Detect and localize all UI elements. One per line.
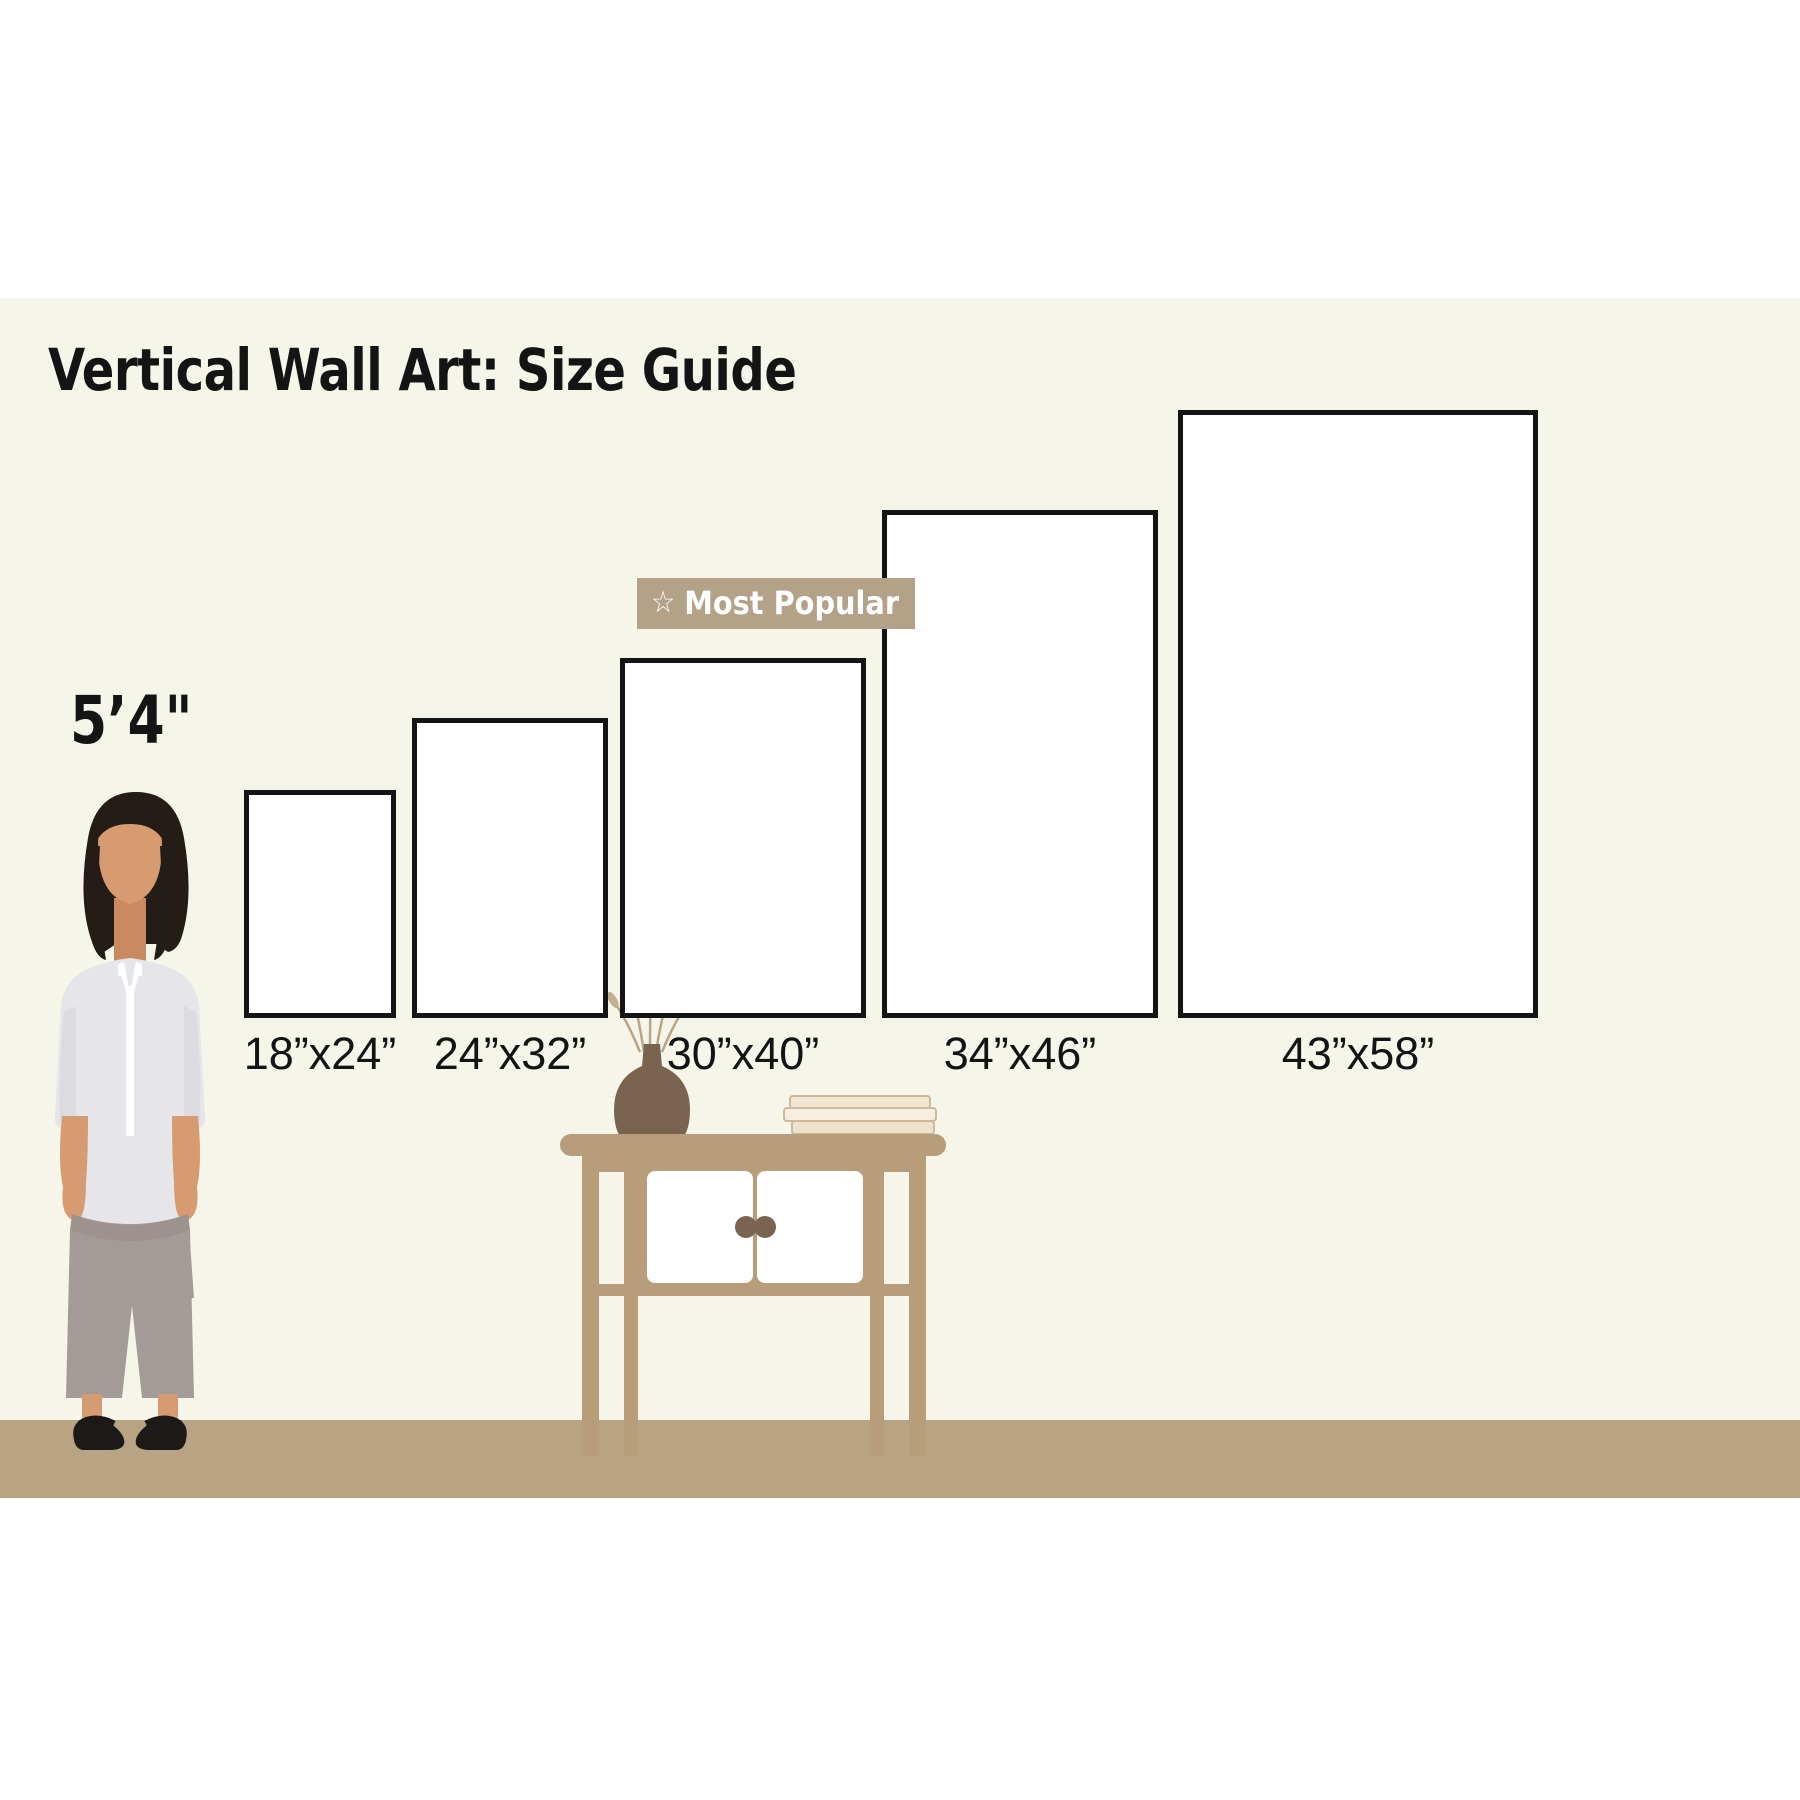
size-label-24x32: 24”x32” [420, 1028, 600, 1080]
size-label-43x58: 43”x58” [1268, 1028, 1448, 1080]
page-title: Vertical Wall Art: Size Guide [48, 336, 796, 404]
most-popular-badge[interactable]: ☆ Most Popular [637, 578, 915, 629]
person-height-label: 5’4" [70, 682, 193, 759]
frame-34x46[interactable] [882, 510, 1158, 1018]
frame-24x32[interactable] [412, 718, 608, 1018]
table-leg-left [582, 1156, 599, 1456]
frame-18x24[interactable] [244, 790, 396, 1018]
frame-43x58[interactable] [1178, 410, 1538, 1018]
star-icon: ☆ [651, 588, 675, 618]
table-top [560, 1134, 946, 1156]
person-figure [40, 768, 220, 1478]
size-label-30x40: 30”x40” [653, 1028, 833, 1080]
person-illustration [40, 768, 220, 1478]
table-leg-right [909, 1156, 926, 1456]
frame-30x40[interactable] [620, 658, 866, 1018]
wall-scene: Vertical Wall Art: Size Guide 5’4" [0, 298, 1800, 1498]
cabinet-knob-left [735, 1216, 757, 1238]
size-label-18x24: 18”x24” [230, 1028, 410, 1080]
book-stack [784, 1096, 936, 1134]
cabinet-knob-right [754, 1216, 776, 1238]
size-label-34x46: 34”x46” [930, 1028, 1110, 1080]
size-guide-canvas: Vertical Wall Art: Size Guide 5’4" [0, 0, 1800, 1800]
most-popular-label: Most Popular [684, 587, 899, 619]
